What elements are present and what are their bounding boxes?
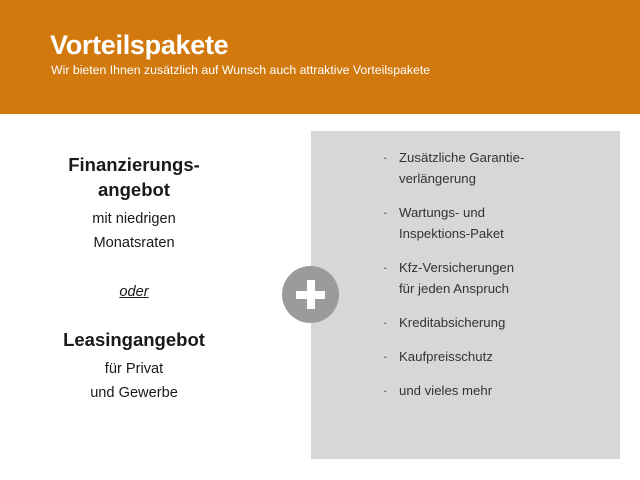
financing-offer-heading-line: angebot bbox=[18, 177, 250, 202]
list-item-line: verlängerung bbox=[399, 168, 608, 189]
bullet-icon: · bbox=[383, 346, 387, 367]
plus-icon bbox=[282, 266, 339, 323]
list-item: · und vieles mehr bbox=[383, 380, 608, 401]
bullet-icon: · bbox=[383, 312, 387, 333]
list-item-line: Kreditabsicherung bbox=[399, 312, 608, 333]
leasing-offer-heading-line: Leasingangebot bbox=[18, 327, 250, 352]
list-item-line: Wartungs- und bbox=[399, 202, 608, 223]
financing-offer-heading-line: Finanzierungs- bbox=[18, 152, 250, 177]
list-item: · Zusätzliche Garantie- verlängerung bbox=[383, 147, 608, 189]
plus-badge bbox=[282, 266, 339, 323]
bullet-icon: · bbox=[383, 257, 387, 278]
header-banner: Vorteilspakete Wir bieten Ihnen zusätzli… bbox=[0, 0, 640, 114]
list-item: · Kreditabsicherung bbox=[383, 312, 608, 333]
benefits-panel: · Zusätzliche Garantie- verlängerung · W… bbox=[311, 131, 620, 459]
list-item: · Kfz-Versicherungen für jeden Anspruch bbox=[383, 257, 608, 299]
list-item-line: Zusätzliche Garantie- bbox=[399, 147, 608, 168]
bullet-icon: · bbox=[383, 202, 387, 223]
list-item: · Kaufpreisschutz bbox=[383, 346, 608, 367]
plus-icon-vertical-bar bbox=[307, 280, 315, 309]
page-title: Vorteilspakete bbox=[50, 30, 228, 60]
leasing-offer-description-line: und Gewerbe bbox=[18, 381, 250, 405]
financing-offer-description: mit niedrigen Monatsraten bbox=[18, 207, 250, 255]
leasing-offer-heading: Leasingangebot bbox=[18, 327, 250, 352]
offers-column: Finanzierungs- angebot mit niedrigen Mon… bbox=[18, 152, 250, 405]
bullet-icon: · bbox=[383, 147, 387, 168]
list-item-line: Kaufpreisschutz bbox=[399, 346, 608, 367]
offers-divider-word: oder bbox=[18, 282, 250, 302]
benefits-list: · Zusätzliche Garantie- verlängerung · W… bbox=[383, 147, 608, 401]
financing-offer-description-line: Monatsraten bbox=[18, 231, 250, 255]
page-subtitle: Wir bieten Ihnen zusätzlich auf Wunsch a… bbox=[51, 63, 430, 78]
financing-offer-description-line: mit niedrigen bbox=[18, 207, 250, 231]
slide-canvas: Vorteilspakete Wir bieten Ihnen zusätzli… bbox=[0, 0, 640, 480]
bullet-icon: · bbox=[383, 380, 387, 401]
leasing-offer-description-line: für Privat bbox=[18, 357, 250, 381]
leasing-offer-description: für Privat und Gewerbe bbox=[18, 357, 250, 405]
list-item-line: und vieles mehr bbox=[399, 380, 608, 401]
financing-offer-heading: Finanzierungs- angebot bbox=[18, 152, 250, 202]
list-item-line: Kfz-Versicherungen bbox=[399, 257, 608, 278]
list-item: · Wartungs- und Inspektions-Paket bbox=[383, 202, 608, 244]
list-item-line: Inspektions-Paket bbox=[399, 223, 608, 244]
list-item-line: für jeden Anspruch bbox=[399, 278, 608, 299]
